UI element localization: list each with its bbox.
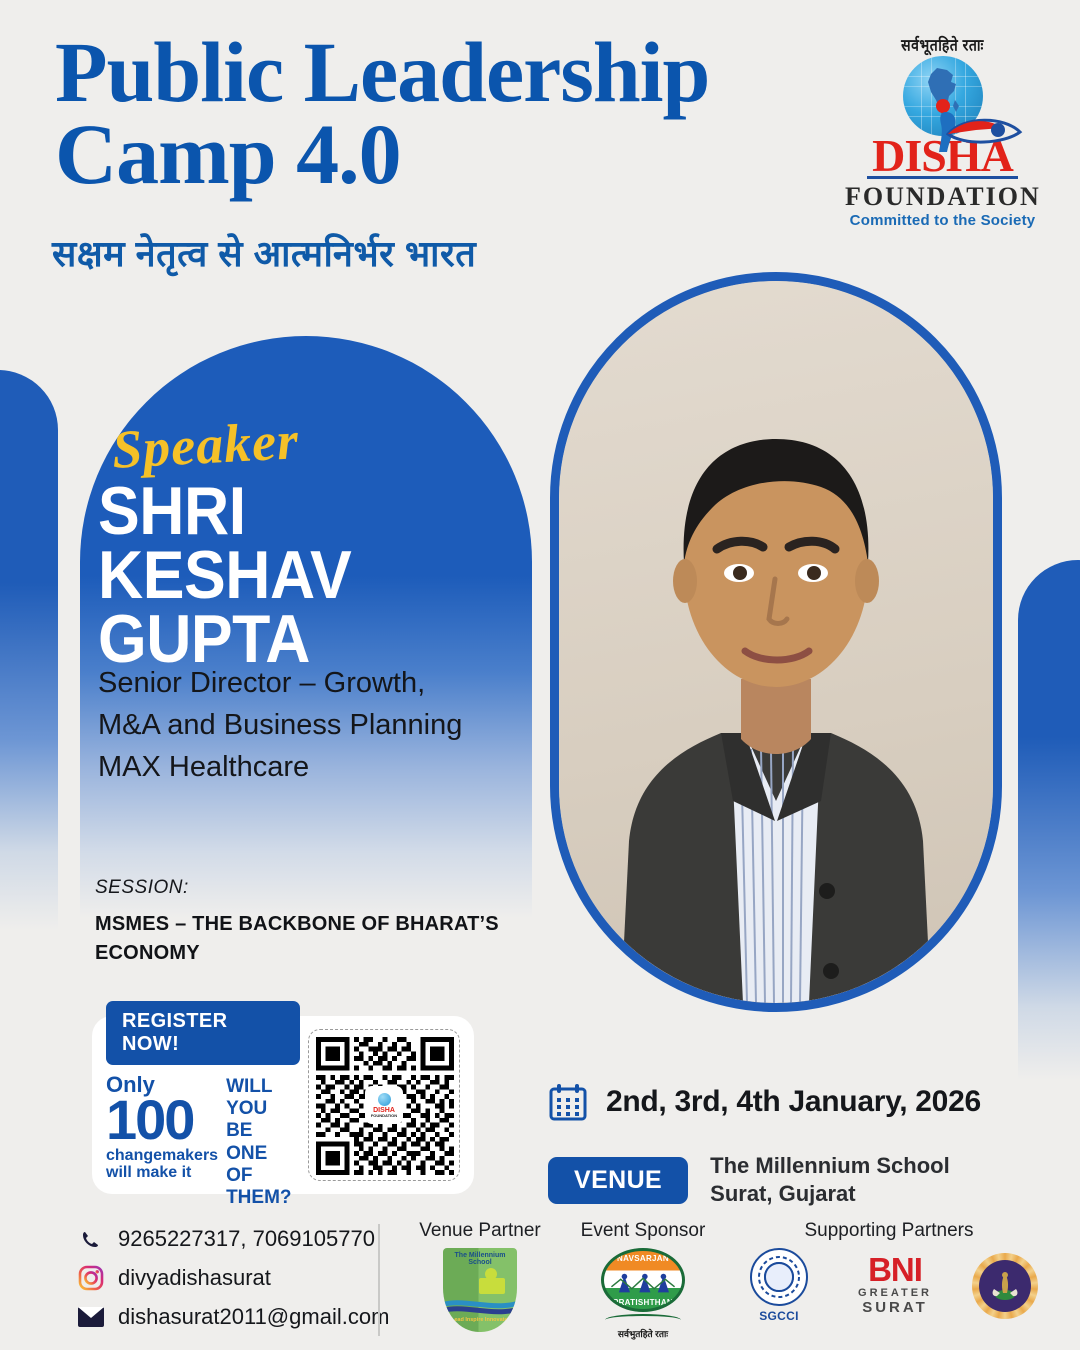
- register-count-block: Only 100 changemakers will make it WILL …: [106, 1074, 300, 1208]
- decorative-arch-right: [1018, 560, 1080, 1080]
- register-info: REGISTER NOW! Only 100 changemakers will…: [106, 1001, 300, 1208]
- speaker-label: Speaker: [111, 409, 301, 481]
- changemakers-line-1: changemakers: [106, 1147, 218, 1165]
- sgcci-emblem-icon: ®: [750, 1248, 808, 1306]
- speaker-name-line-1: SHRI KESHAV: [98, 480, 494, 608]
- speaker-role-line-3: MAX Healthcare: [98, 746, 528, 788]
- millennium-shield-icon: The Millennium School Lead Inspire Innov…: [443, 1248, 517, 1332]
- contact-phone: 9265227317, 7069105770: [118, 1226, 375, 1252]
- session-label: SESSION:: [95, 877, 189, 899]
- contact-instagram: divyadishasurat: [118, 1265, 271, 1291]
- register-now-button[interactable]: REGISTER NOW!: [106, 1001, 300, 1065]
- title-line-2: Camp 4.0: [55, 114, 815, 196]
- millennium-book-icon: [479, 1278, 505, 1294]
- event-sponsor-group: Event Sponsor NAVSARJAN: [565, 1220, 721, 1346]
- register-changemakers: changemakers will make it: [106, 1147, 218, 1183]
- qr-code[interactable]: DISHA FOUNDATION: [308, 1029, 460, 1181]
- disha-foundation-logo: सर्वभूतहिते रताः DISHA FOUNDATION Commit…: [845, 36, 1040, 226]
- contact-instagram-row[interactable]: divyadishasurat: [78, 1265, 389, 1291]
- title-line-1: Public Leadership: [55, 32, 815, 114]
- prompt-line-4: ONE: [226, 1143, 291, 1165]
- bni-surat-text: SURAT: [840, 1299, 950, 1316]
- footer-divider: [378, 1224, 380, 1336]
- prompt-line-6: THEM?: [226, 1187, 291, 1209]
- bni-greater-text: GREATER: [840, 1287, 950, 1299]
- speaker-role-line-1: Senior Director – Growth,: [98, 662, 528, 704]
- event-sponsor-label: Event Sponsor: [565, 1220, 721, 1242]
- event-date-row: 2nd, 3rd, 4th January, 2026: [548, 1082, 981, 1122]
- navsarjan-figures-icon: [604, 1273, 682, 1295]
- poster-footer: 9265227317, 7069105770 divyadishasurat: [0, 1218, 1080, 1350]
- partners-section: Venue Partner The Millennium School Lead…: [395, 1220, 1057, 1346]
- peacock-icon: [988, 1269, 1022, 1303]
- speaker-role: Senior Director – Growth, M&A and Busine…: [98, 662, 528, 788]
- bni-logo: BNI GREATER SURAT: [840, 1255, 950, 1317]
- venue-badge: VENUE: [548, 1157, 688, 1204]
- prompt-line-5: OF: [226, 1165, 291, 1187]
- gold-emblem-logo: [972, 1253, 1038, 1319]
- eye-icon: [946, 114, 1024, 148]
- contact-info: 9265227317, 7069105770 divyadishasurat: [78, 1226, 389, 1343]
- venue-partner-group: Venue Partner The Millennium School Lead…: [395, 1220, 565, 1332]
- navsarjan-top-text: NAVSARJAN: [604, 1254, 682, 1263]
- instagram-icon: [78, 1265, 104, 1291]
- email-icon: [78, 1304, 104, 1330]
- millennium-school-name: The Millennium School: [443, 1252, 517, 1266]
- venue-address: The Millennium School Surat, Gujarat: [710, 1152, 950, 1208]
- venue-partner-logos: The Millennium School Lead Inspire Innov…: [395, 1248, 565, 1332]
- register-count: 100: [106, 1096, 218, 1144]
- speaker-photo-frame: [550, 272, 1002, 1012]
- calendar-icon: [548, 1082, 588, 1122]
- page-title: Public Leadership Camp 4.0: [55, 32, 815, 195]
- qr-pattern: DISHA FOUNDATION: [316, 1037, 452, 1173]
- prompt-line-1: WILL: [226, 1076, 291, 1098]
- venue-line-2: Surat, Gujarat: [710, 1180, 950, 1208]
- qr-logo-subtext: FOUNDATION: [371, 1114, 397, 1118]
- navsarjan-scroll-icon: [605, 1314, 681, 1326]
- navsarjan-bottom-text: PRATISHTHAN: [604, 1298, 682, 1307]
- supporting-partner-logos: ® SGCCI BNI GREATER SURAT: [721, 1248, 1057, 1323]
- gold-core-icon: [979, 1260, 1031, 1312]
- contact-email-row[interactable]: dishasurat2011@gmail.com: [78, 1304, 389, 1330]
- bni-brand: BNI: [840, 1255, 950, 1285]
- millennium-wave-icon: [443, 1298, 517, 1316]
- speaker-name: SHRI KESHAV GUPTA: [98, 480, 494, 672]
- decorative-arch-left: [0, 370, 58, 930]
- logo-divider: [867, 176, 1018, 179]
- speaker-portrait-illustration: [559, 281, 993, 1003]
- event-sponsor-logos: NAVSARJAN PRATISHTHAN सर्: [565, 1248, 721, 1346]
- register-card[interactable]: REGISTER NOW! Only 100 changemakers will…: [92, 1016, 474, 1194]
- navsarjan-pratishthan-logo: NAVSARJAN PRATISHTHAN सर्: [597, 1248, 689, 1346]
- navsarjan-sanskrit: सर्वभुतहिते रताः: [597, 1327, 689, 1340]
- venue-line-1: The Millennium School: [710, 1152, 950, 1180]
- qr-logo-globe-icon: [378, 1093, 391, 1106]
- logo-foundation-text: FOUNDATION: [845, 182, 1040, 212]
- session-title: MSMES – THE BACKBONE OF BHARAT’S ECONOMY: [95, 910, 515, 968]
- event-date: 2nd, 3rd, 4th January, 2026: [606, 1085, 981, 1119]
- prompt-line-3: BE: [226, 1120, 291, 1142]
- phone-icon: [78, 1226, 104, 1252]
- contact-email: dishasurat2011@gmail.com: [118, 1304, 389, 1330]
- event-venue-row: VENUE The Millennium School Surat, Gujar…: [548, 1152, 950, 1208]
- changemakers-line-2: will make it: [106, 1164, 218, 1182]
- tagline-hindi: सक्षम नेतृत्व से आत्मनिर्भर भारत: [52, 228, 476, 277]
- sgcci-inner-icon: [764, 1262, 794, 1292]
- contact-phone-row[interactable]: 9265227317, 7069105770: [78, 1226, 389, 1252]
- speaker-role-line-2: M&A and Business Planning: [98, 704, 528, 746]
- millennium-school-logo: The Millennium School Lead Inspire Innov…: [443, 1248, 517, 1332]
- sgcci-name: SGCCI: [740, 1309, 818, 1323]
- millennium-motto: Lead Inspire Innovate: [451, 1316, 508, 1324]
- sgcci-registered-mark: ®: [799, 1250, 804, 1257]
- logo-sanskrit-text: सर्वभूतहिते रताः: [845, 35, 1040, 57]
- sgcci-logo: ® SGCCI: [740, 1248, 818, 1323]
- register-count-left: Only 100 changemakers will make it: [106, 1074, 218, 1208]
- venue-partner-label: Venue Partner: [395, 1220, 565, 1242]
- qr-embedded-logo: DISHA FOUNDATION: [365, 1086, 403, 1124]
- register-prompt: WILL YOU BE ONE OF THEM?: [226, 1074, 291, 1208]
- navsarjan-emblem-icon: NAVSARJAN PRATISHTHAN: [601, 1248, 685, 1312]
- logo-tagline-text: Committed to the Society: [845, 212, 1040, 229]
- supporting-partners-label: Supporting Partners: [721, 1220, 1057, 1242]
- supporting-partners-group: Supporting Partners ® SGCCI: [721, 1220, 1057, 1323]
- speaker-photo: [559, 281, 993, 1003]
- prompt-line-2: YOU: [226, 1098, 291, 1120]
